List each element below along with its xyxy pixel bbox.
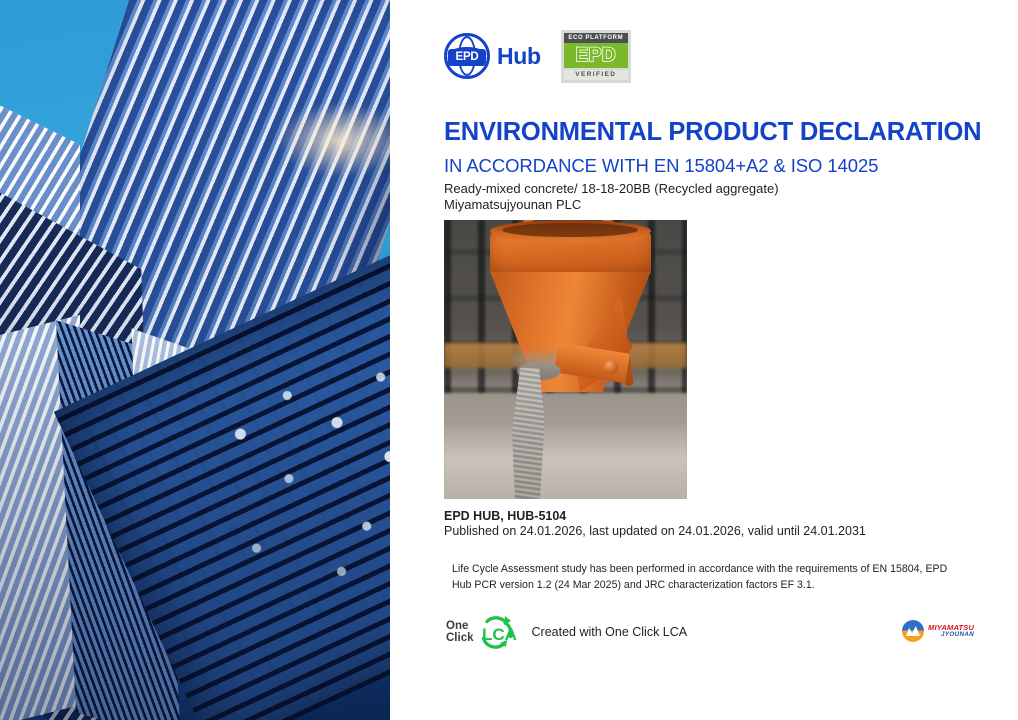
one-click-wordmark: One Click: [446, 620, 474, 645]
certification-logo-row: EPD Hub ECO PLATFORM EPD VERIFIED: [444, 30, 631, 83]
globe-icon: EPD: [444, 33, 490, 79]
registration-title: EPD HUB, HUB-5104: [444, 509, 566, 523]
photo-concrete-floor: [444, 424, 687, 499]
eco-platform-header: ECO PLATFORM: [564, 33, 628, 43]
content-column: EPD Hub ECO PLATFORM EPD VERIFIED ENVIRO…: [390, 0, 1018, 720]
footer-row: One Click LCA Creat: [446, 614, 687, 650]
epd-cover-page: EPD Hub ECO PLATFORM EPD VERIFIED ENVIRO…: [0, 0, 1018, 720]
eco-platform-verified-text: VERIFIED: [564, 70, 628, 80]
one-click-line-two: Click: [446, 632, 474, 644]
epd-hub-wordmark: Hub: [497, 43, 541, 70]
epd-hub-logo: EPD Hub: [444, 33, 541, 79]
manufacturer-logo: MIYAMATSU JYOUNAN: [902, 620, 974, 642]
eco-platform-epd-text: EPD: [576, 45, 617, 66]
manufacturer-name: Miyamatsujyounan PLC: [444, 196, 581, 214]
one-click-line-one: One: [446, 620, 474, 632]
product-photo: [444, 220, 687, 499]
manufacturer-wordmark: MIYAMATSU JYOUNAN: [928, 624, 974, 638]
page-subtitle: IN ACCORDANCE WITH EN 15804+A2 & ISO 140…: [444, 155, 1004, 177]
recycle-arrow-icon: LCA: [476, 614, 518, 650]
registration-dates: Published on 24.01.2026, last updated on…: [444, 524, 866, 538]
hero-building-image: [0, 0, 390, 720]
one-click-lca-text: LCA: [482, 625, 517, 644]
epd-globe-label: EPD: [455, 52, 478, 64]
mountain-circle-icon: [902, 620, 924, 642]
lca-compliance-note: Life Cycle Assessment study has been per…: [452, 562, 952, 594]
epd-globe-band: EPD: [448, 49, 486, 66]
page-title: ENVIRONMENTAL PRODUCT DECLARATION: [444, 118, 1004, 147]
product-name: Ready-mixed concrete/ 18-18-20BB (Recycl…: [444, 180, 779, 198]
manufacturer-logo-line-two: JYOUNAN: [928, 632, 974, 639]
bucket-rim-inner: [502, 223, 638, 237]
created-with-label: Created with One Click LCA: [532, 625, 688, 639]
sun-reflection-glow: [280, 105, 390, 175]
eco-platform-verified-logo: ECO PLATFORM EPD VERIFIED: [561, 30, 631, 83]
one-click-lca-logo: One Click LCA: [446, 614, 518, 650]
eco-platform-body: EPD: [564, 43, 628, 68]
